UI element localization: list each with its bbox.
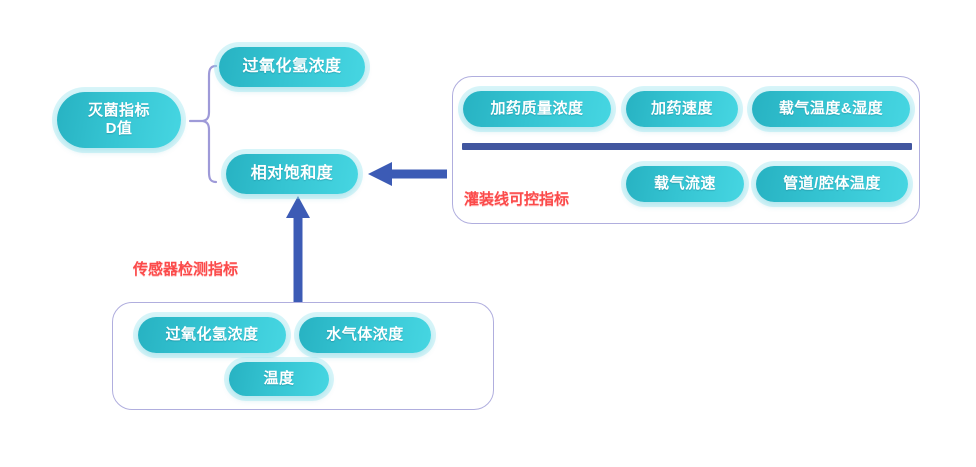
node-carrier-gas-flow-rate[interactable]: 载气流速 [626, 166, 744, 202]
panel-divider [462, 143, 912, 150]
diagram-canvas: 灭菌指标 D值 过氧化氢浓度 相对饱和度 加药质量浓度 加药速度 载气温度&湿度… [0, 0, 976, 467]
node-sterilization-index-d-value[interactable]: 灭菌指标 D值 [57, 92, 181, 148]
node-water-vapor-concentration[interactable]: 水气体浓度 [299, 317, 431, 353]
curly-bracket-connector [190, 66, 216, 182]
node-pipe-chamber-temperature[interactable]: 管道/腔体温度 [756, 166, 908, 202]
arrow-right-panel-to-saturation [368, 162, 447, 186]
label-filling-line-controllable-indicators: 灌装线可控指标 [464, 188, 569, 209]
node-line-1: 灭菌指标 [88, 102, 150, 119]
node-sensor-temperature[interactable]: 温度 [229, 362, 329, 396]
sensor-detection-indicators-panel: 过氧化氢浓度 水气体浓度 温度 [112, 302, 494, 410]
node-carrier-gas-temp-humidity[interactable]: 载气温度&湿度 [752, 91, 910, 127]
node-line-2: D值 [106, 120, 133, 137]
label-sensor-detection-indicators: 传感器检测指标 [133, 258, 238, 279]
node-dosing-speed[interactable]: 加药速度 [626, 91, 738, 127]
node-h2o2-concentration[interactable]: 过氧化氢浓度 [219, 47, 365, 87]
node-sensor-h2o2-concentration[interactable]: 过氧化氢浓度 [138, 317, 286, 353]
arrow-bottom-panel-to-saturation [286, 196, 310, 302]
node-relative-saturation[interactable]: 相对饱和度 [226, 154, 358, 194]
node-dosing-mass-concentration[interactable]: 加药质量浓度 [463, 91, 611, 127]
